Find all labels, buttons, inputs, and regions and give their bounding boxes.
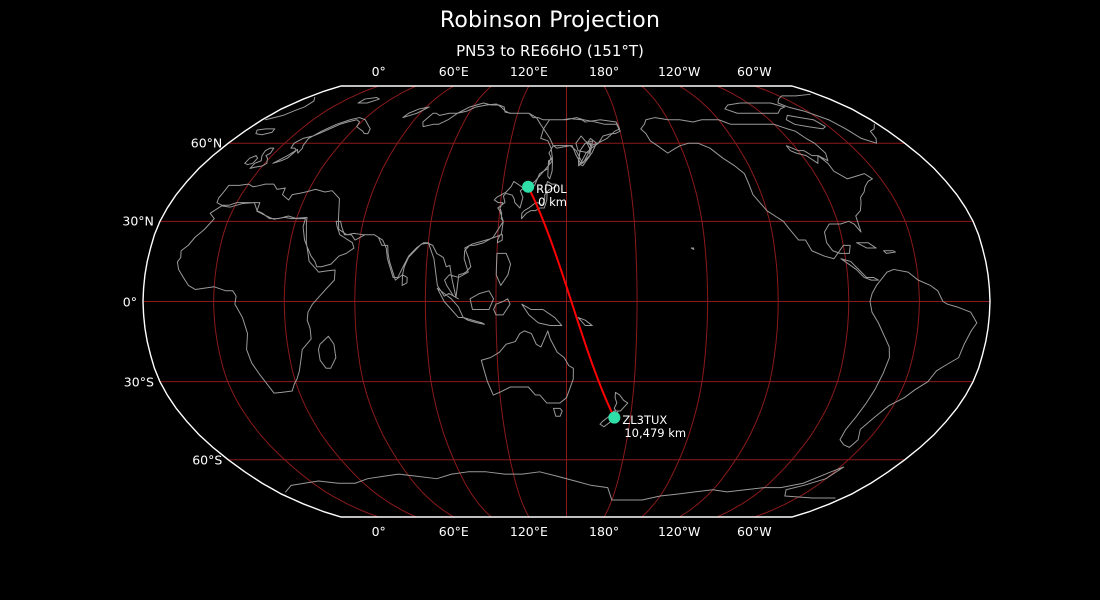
station-marker-rd0l[interactable] (522, 181, 534, 193)
lon-tick-bottom-1: 60°E (439, 524, 469, 539)
lat-tick-3: 30°S (0, 374, 154, 389)
marker-callsign: ZL3TUX (622, 414, 686, 427)
lat-tick-4: 60°S (0, 452, 222, 467)
lon-tick-bottom-3: 180° (589, 524, 619, 539)
marker-distance: 10,479 km (624, 427, 686, 440)
lon-tick-bottom-4: 120°W (658, 524, 700, 539)
lon-tick-top-5: 60°W (737, 64, 772, 79)
lat-tick-0: 60°N (0, 136, 222, 151)
lon-tick-top-3: 180° (589, 64, 619, 79)
marker-distance: 0 km (538, 196, 567, 209)
lon-tick-top-1: 60°E (439, 64, 469, 79)
lon-tick-top-0: 0° (372, 64, 386, 79)
lon-tick-bottom-0: 0° (372, 524, 386, 539)
station-marker-zl3tux[interactable] (608, 412, 620, 424)
lon-tick-top-4: 120°W (658, 64, 700, 79)
world-map[interactable] (0, 0, 1100, 600)
lon-tick-top-2: 120°E (510, 64, 548, 79)
marker-label-zl3tux: ZL3TUX10,479 km (622, 414, 686, 440)
lat-tick-2: 0° (0, 294, 137, 309)
marker-label-rd0l: RD0L0 km (536, 183, 567, 209)
robinson-projection-figure: Robinson Projection PN53 to RE66HO (151°… (0, 0, 1100, 600)
lon-tick-bottom-5: 60°W (737, 524, 772, 539)
marker-callsign: RD0L (536, 183, 567, 196)
lon-tick-bottom-2: 120°E (510, 524, 548, 539)
lat-tick-1: 30°N (0, 214, 154, 229)
